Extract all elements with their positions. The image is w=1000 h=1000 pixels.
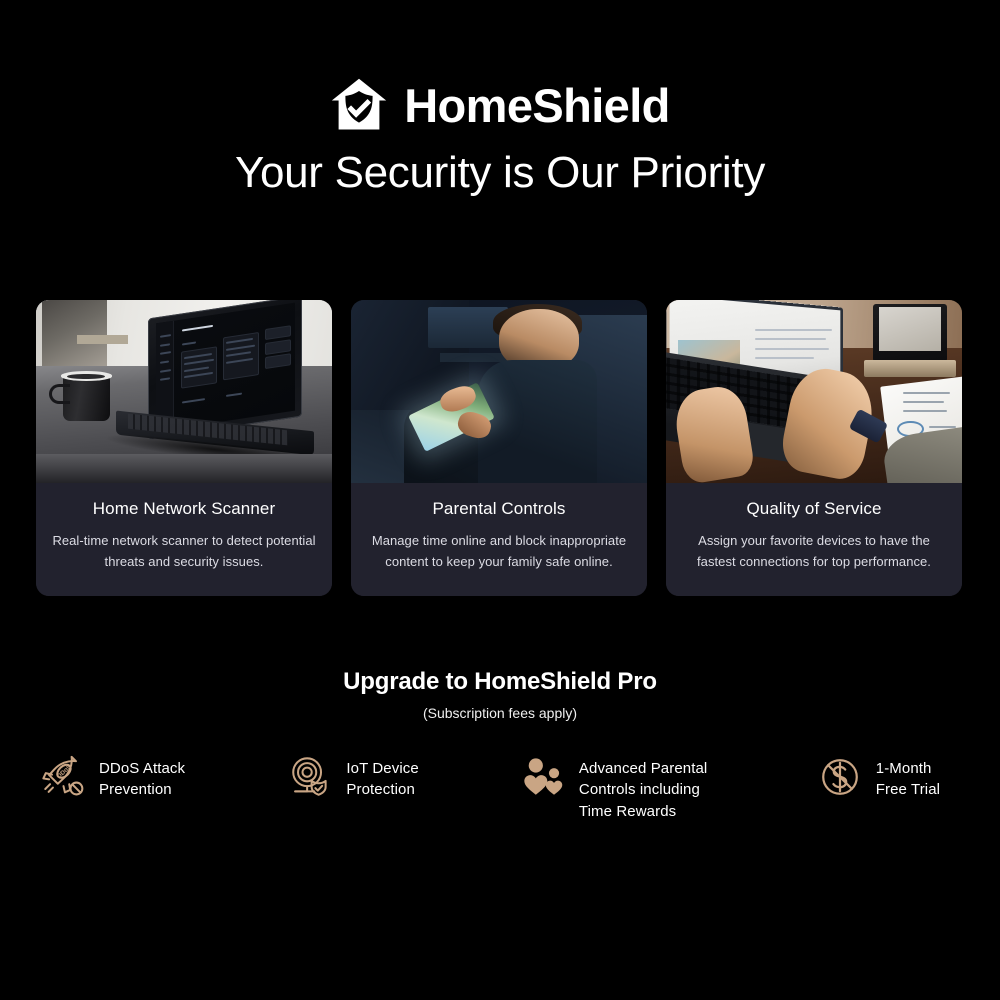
pro-feature-item: IoT Device Protection — [287, 752, 520, 801]
parent-and-child-icon — [520, 754, 566, 800]
feature-card-body: Home Network Scanner Real-time network s… — [36, 483, 332, 596]
feature-card-description: Real-time network scanner to detect pote… — [50, 530, 318, 572]
feature-card-title: Home Network Scanner — [50, 499, 318, 519]
dollar-no-charge-icon — [817, 754, 863, 800]
homeshield-promo-page: HomeShield Your Security is Our Priority — [0, 0, 1000, 1000]
pro-section-title: Upgrade to HomeShield Pro — [0, 668, 1000, 696]
feature-card-body: Quality of Service Assign your favorite … — [666, 483, 962, 596]
pro-feature-item: 1-Month Free Trial — [817, 752, 980, 801]
page-header: HomeShield Your Security is Our Priority — [0, 0, 1000, 197]
pro-feature-label: 1-Month Free Trial — [876, 752, 940, 801]
feature-card-body: Parental Controls Manage time online and… — [351, 483, 647, 596]
pro-upgrade-section: Upgrade to HomeShield Pro (Subscription … — [0, 668, 1000, 721]
pro-feature-label: IoT Device Protection — [346, 752, 418, 801]
feature-card[interactable]: Parental Controls Manage time online and… — [351, 300, 647, 596]
page-tagline: Your Security is Our Priority — [0, 148, 1000, 197]
child-with-tablet-photo — [351, 300, 647, 483]
feature-card-title: Quality of Service — [680, 499, 948, 519]
laptop-on-desk-photo — [36, 300, 332, 483]
brand-name: HomeShield — [404, 82, 670, 129]
webcam-shield-check-icon — [287, 754, 333, 800]
pro-section-subtitle: (Subscription fees apply) — [0, 705, 1000, 721]
pro-feature-label: Advanced Parental Controls including Tim… — [579, 752, 707, 822]
pro-feature-item: DDoS DDoS Attack Prevention — [40, 752, 287, 801]
feature-card[interactable]: Home Network Scanner Real-time network s… — [36, 300, 332, 596]
feature-card[interactable]: Quality of Service Assign your favorite … — [666, 300, 962, 596]
feature-card-description: Manage time online and block inappropria… — [365, 530, 633, 572]
pro-feature-item: Advanced Parental Controls including Tim… — [520, 752, 817, 822]
home-shield-check-icon — [330, 76, 388, 134]
hands-typing-laptop-photo — [666, 300, 962, 483]
rocket-ddos-blocked-icon: DDoS — [40, 754, 86, 800]
feature-card-title: Parental Controls — [365, 499, 633, 519]
pro-feature-list: DDoS DDoS Attack Prevention — [40, 752, 980, 822]
feature-card-list: Home Network Scanner Real-time network s… — [36, 300, 964, 596]
feature-card-description: Assign your favorite devices to have the… — [680, 530, 948, 572]
brand-row: HomeShield — [0, 72, 1000, 138]
pro-feature-label: DDoS Attack Prevention — [99, 752, 185, 801]
